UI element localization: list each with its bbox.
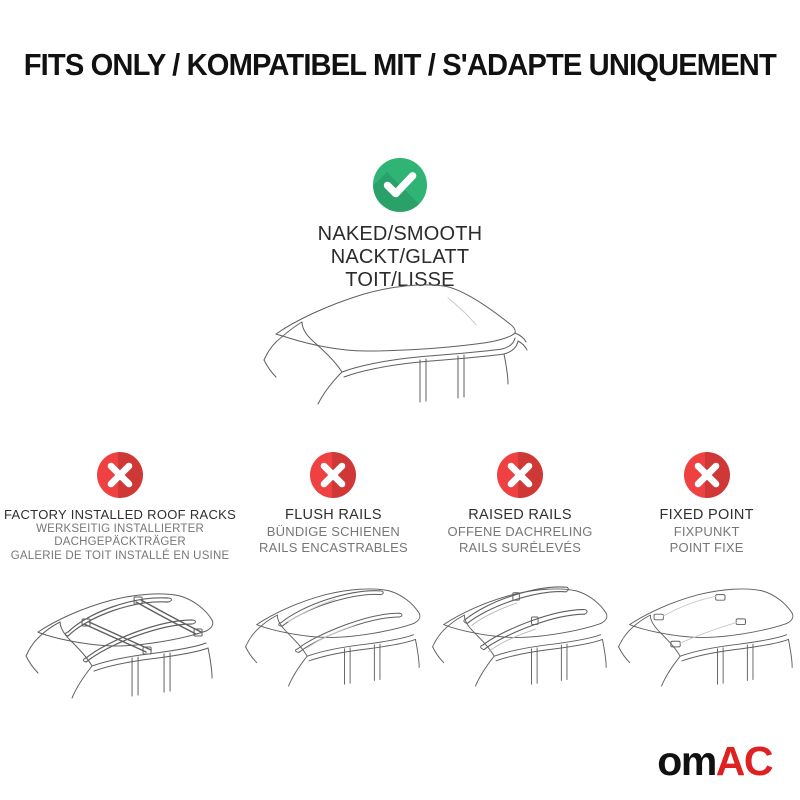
- approved-roof-type-block: NAKED/SMOOTH NACKT/GLATT TOIT/LISSE: [0, 158, 800, 293]
- rejected-label-de-1: OFFENE DACHRELING: [431, 524, 610, 540]
- car-roof-factory-roof-racks-illustration: [0, 574, 240, 704]
- x-circle-icon: [97, 452, 143, 498]
- rejected-label-en: RAISED RAILS: [431, 507, 610, 524]
- approved-label-de: NACKT/GLATT: [0, 246, 800, 269]
- x-circle-icon: [497, 452, 543, 498]
- car-roof-naked-smooth-illustration: [262, 280, 562, 410]
- rejected-label-de-1: BÜNDIGE SCHIENEN: [244, 524, 423, 540]
- logo-text-dark: om: [657, 738, 716, 784]
- rejected-labels: FIXED POINT FIXPUNKT POINT FIXE: [613, 507, 800, 556]
- rejected-item-factory-roof-racks: FACTORY INSTALLED ROOF RACKS WERKSEITIG …: [0, 452, 240, 704]
- rejected-label-de-2: DACHGEPÄCKTRÄGER: [4, 536, 236, 550]
- rejected-label-en: FACTORY INSTALLED ROOF RACKS: [4, 507, 236, 523]
- logo-text-accent: AC: [716, 738, 772, 784]
- approved-label-en: NAKED/SMOOTH: [0, 223, 800, 246]
- rejected-labels: RAISED RAILS OFFENE DACHRELING RAILS SUR…: [427, 507, 614, 556]
- omac-logo: omAC: [657, 741, 772, 782]
- page-title-text: FITS ONLY / KOMPATIBEL MIT / S'ADAPTE UN…: [24, 48, 776, 83]
- car-roof-flush-rails-illustration: [240, 566, 427, 696]
- rejected-label-fr: RAILS SURÉLEVÉS: [431, 540, 610, 556]
- rejected-label-en: FIXED POINT: [617, 507, 796, 524]
- rejected-label-en: FLUSH RAILS: [244, 507, 423, 524]
- x-circle-icon: [310, 452, 356, 498]
- rejected-item-fixed-point: FIXED POINT FIXPUNKT POINT FIXE: [613, 452, 800, 696]
- x-circle-icon: [684, 452, 730, 498]
- rejected-label-de-1: FIXPUNKT: [617, 524, 796, 540]
- rejected-labels: FACTORY INSTALLED ROOF RACKS WERKSEITIG …: [0, 507, 240, 564]
- rejected-item-raised-rails: RAISED RAILS OFFENE DACHRELING RAILS SUR…: [427, 452, 614, 696]
- rejected-item-flush-rails: FLUSH RAILS BÜNDIGE SCHIENEN RAILS ENCAS…: [240, 452, 427, 696]
- car-roof-fixed-point-illustration: [613, 566, 800, 696]
- rejected-label-fr: RAILS ENCASTRABLES: [244, 540, 423, 556]
- rejected-roof-types-grid: FACTORY INSTALLED ROOF RACKS WERKSEITIG …: [0, 452, 800, 704]
- rejected-label-de-1: WERKSEITIG INSTALLIERTER: [4, 523, 236, 537]
- car-roof-raised-rails-illustration: [427, 566, 614, 696]
- rejected-labels: FLUSH RAILS BÜNDIGE SCHIENEN RAILS ENCAS…: [240, 507, 427, 556]
- rejected-label-fr: GALERIE DE TOIT INSTALLÉ EN USINE: [4, 550, 236, 564]
- page-title: FITS ONLY / KOMPATIBEL MIT / S'ADAPTE UN…: [0, 48, 800, 83]
- rejected-label-fr: POINT FIXE: [617, 540, 796, 556]
- check-circle-icon: [373, 158, 427, 212]
